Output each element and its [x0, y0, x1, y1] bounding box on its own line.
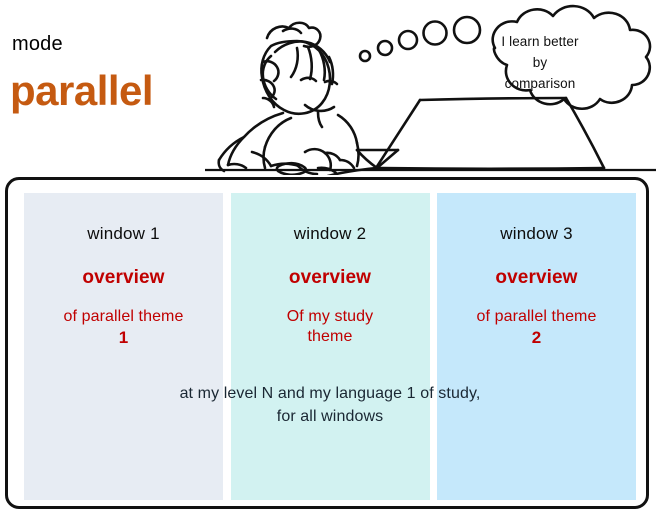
windows-panels-row: window 1 overview of parallel theme 1 wi…: [24, 193, 636, 500]
window-panel-1-title: window 1: [24, 225, 223, 242]
window-panel-2-title: window 2: [231, 225, 430, 242]
window-panel-2-emphasis: theme: [231, 327, 430, 347]
window-panel-3-emphasis: 2: [437, 327, 636, 349]
window-panel-1-description: of parallel theme 1: [24, 307, 223, 349]
windows-container: window 1 overview of parallel theme 1 wi…: [5, 177, 649, 509]
thought-bubble-text: I learn better by comparison: [466, 32, 614, 95]
window-panel-1-desc-text: of parallel theme: [64, 308, 184, 325]
thought-bubble-line-2: by: [466, 53, 614, 74]
window-panel-3-overview: overview: [437, 268, 636, 287]
window-panel-3-title: window 3: [437, 225, 636, 242]
header-area: mode parallel: [0, 0, 656, 175]
window-panel-1-overview: overview: [24, 268, 223, 287]
window-panel-3-description: of parallel theme 2: [437, 307, 636, 349]
window-panel-2-description: Of my study theme: [231, 307, 430, 348]
window-panel-1-emphasis: 1: [24, 327, 223, 349]
thought-bubble-line-3: comparison: [466, 74, 614, 95]
window-panel-2[interactable]: window 2 overview Of my study theme: [231, 193, 430, 500]
window-panel-2-overview: overview: [231, 268, 430, 287]
window-panel-3[interactable]: window 3 overview of parallel theme 2: [437, 193, 636, 500]
thought-bubble-line-1: I learn better: [466, 32, 614, 53]
window-panel-2-desc-text: Of my study: [287, 308, 373, 325]
mode-label: mode: [12, 34, 63, 54]
mode-value: parallel: [10, 70, 153, 112]
window-panel-1[interactable]: window 1 overview of parallel theme 1: [24, 193, 223, 500]
window-panel-3-desc-text: of parallel theme: [477, 308, 597, 325]
